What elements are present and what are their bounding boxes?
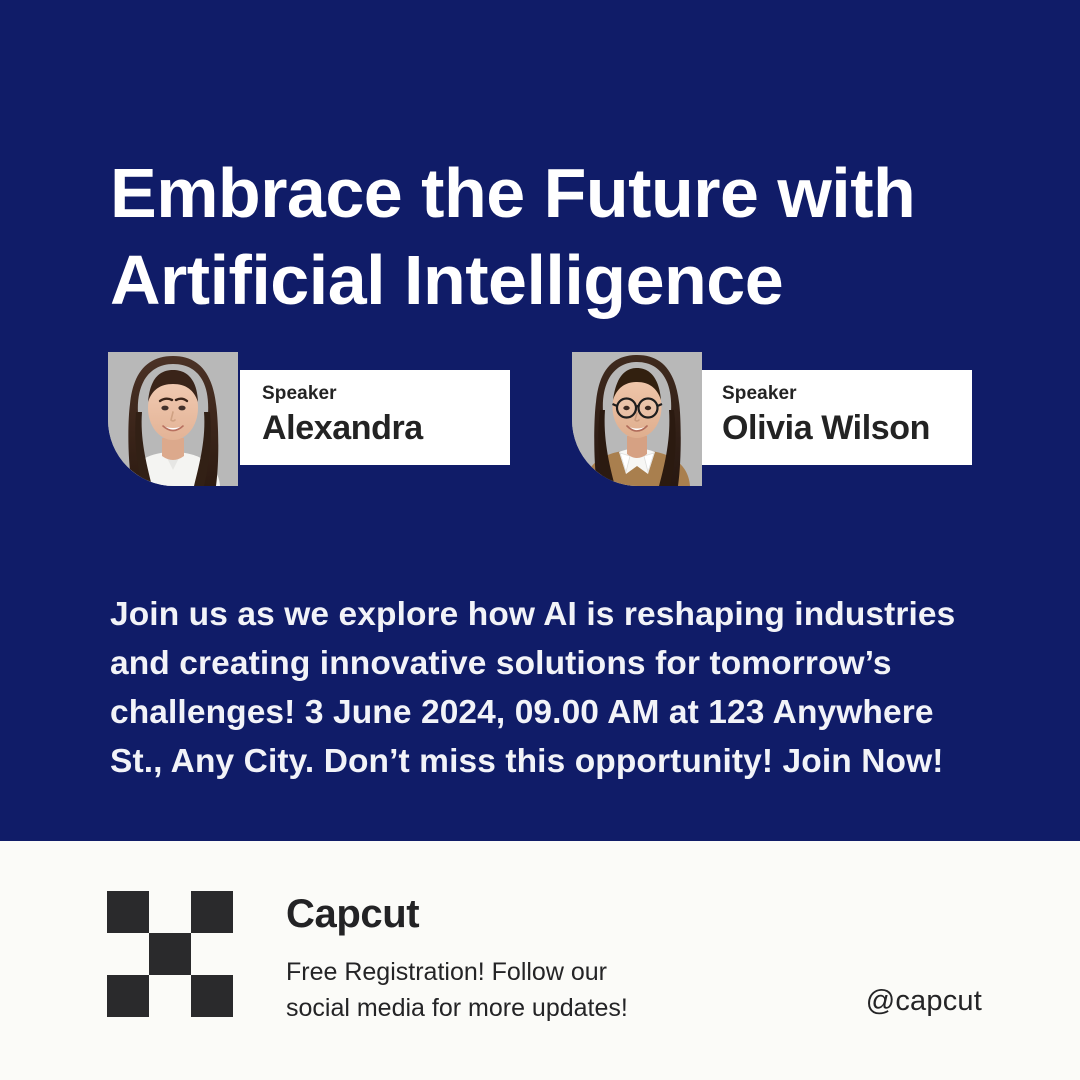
speaker-name-plate: Speaker Olivia Wilson: [700, 370, 972, 465]
brand-tagline: Free Registration! Follow our social med…: [286, 954, 716, 1026]
event-description-line-4: St., Any City. Don’t miss this opportuni…: [110, 737, 1010, 786]
speaker-name: Olivia Wilson: [722, 409, 972, 448]
logo-cell-1-2: [191, 933, 233, 975]
page-title: Embrace the Future with Artificial Intel…: [110, 150, 1010, 325]
event-description: Join us as we explore how AI is reshapin…: [110, 590, 1010, 786]
speaker-role-label: Speaker: [722, 384, 972, 405]
brand-block: Capcut Free Registration! Follow our soc…: [286, 892, 716, 1026]
speaker-photo-olivia-wilson: [572, 352, 702, 486]
poster-canvas: Embrace the Future with Artificial Intel…: [0, 0, 1080, 1080]
brand-tagline-line-1: Free Registration! Follow our: [286, 954, 716, 990]
logo-cell-1-0: [107, 933, 149, 975]
event-description-line-3: challenges! 3 June 2024, 09.00 AM at 123…: [110, 688, 1010, 737]
speaker-card-alexandra[interactable]: Speaker Alexandra: [108, 352, 510, 486]
event-description-line-2: and creating innovative solutions for to…: [110, 639, 1010, 688]
logo-cell-1-1: [149, 933, 191, 975]
speaker-role-label: Speaker: [262, 384, 510, 405]
logo-cell-2-1: [149, 975, 191, 1017]
logo-cell-2-0: [107, 975, 149, 1017]
page-title-line-1: Embrace the Future with: [110, 150, 1010, 238]
hero-panel: Embrace the Future with Artificial Intel…: [0, 0, 1080, 841]
logo-cell-2-2: [191, 975, 233, 1017]
logo-cell-0-1: [149, 891, 191, 933]
logo-cell-0-0: [107, 891, 149, 933]
logo-cell-0-2: [191, 891, 233, 933]
checkerboard-x-logo-icon: [107, 891, 233, 1017]
speaker-name-plate: Speaker Alexandra: [240, 370, 510, 465]
brand-tagline-line-2: social media for more updates!: [286, 990, 716, 1026]
event-description-line-1: Join us as we explore how AI is reshapin…: [110, 590, 1010, 639]
page-title-line-2: Artificial Intelligence: [110, 237, 1010, 325]
speaker-card-olivia-wilson[interactable]: Speaker Olivia Wilson: [572, 352, 972, 486]
brand-name: Capcut: [286, 892, 716, 936]
speaker-name: Alexandra: [262, 409, 510, 448]
speaker-photo-alexandra: [108, 352, 238, 486]
social-handle[interactable]: @capcut: [866, 985, 982, 1018]
